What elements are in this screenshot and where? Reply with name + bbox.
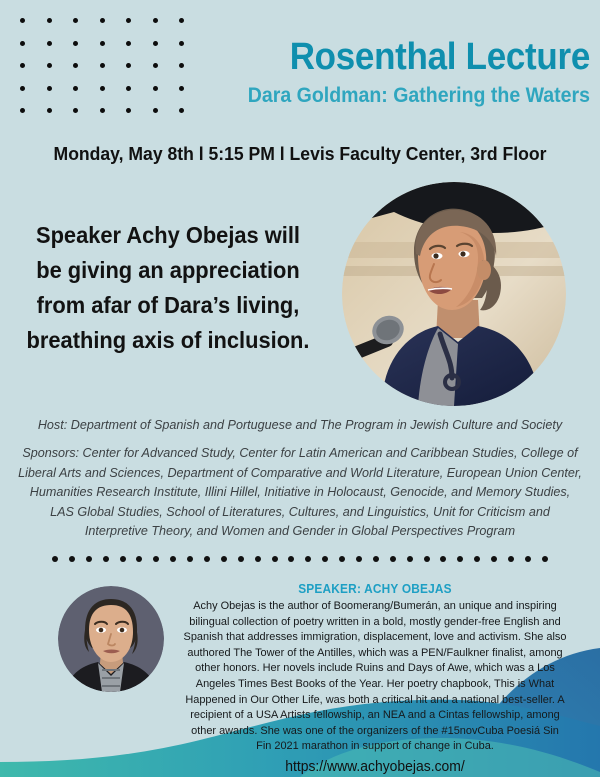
page-subtitle: Dara Goldman: Gathering the Waters (232, 82, 590, 109)
grid-dot (100, 18, 105, 23)
dot-grid-decoration (20, 18, 206, 131)
divider-dot (424, 556, 430, 562)
divider-dot (542, 556, 548, 562)
divider-dot (508, 556, 514, 562)
grid-dot (126, 18, 131, 23)
divider-dot (272, 556, 278, 562)
divider-dot (136, 556, 142, 562)
grid-dot (179, 108, 184, 113)
grid-dot (20, 41, 25, 46)
grid-dot (179, 86, 184, 91)
speaker-bio-photo (58, 586, 164, 692)
grid-dot (73, 41, 78, 46)
divider-dot (288, 556, 294, 562)
divider-dot (170, 556, 176, 562)
divider-dot (221, 556, 227, 562)
divider-dot (407, 556, 413, 562)
event-datetime-location: Monday, May 8th l 5:15 PM l Levis Facult… (15, 143, 585, 165)
grid-dot (126, 41, 131, 46)
divider-dot (525, 556, 531, 562)
grid-dot (179, 41, 184, 46)
grid-dot (47, 63, 52, 68)
divider-dot (204, 556, 210, 562)
grid-dot (47, 41, 52, 46)
divider-dot (390, 556, 396, 562)
grid-dot (153, 86, 158, 91)
page-title: Rosenthal Lecture (236, 36, 590, 78)
divider-dot (86, 556, 92, 562)
grid-dot (73, 86, 78, 91)
sponsors-line: Sponsors: Center for Advanced Study, Cen… (18, 444, 582, 542)
divider-dot (373, 556, 379, 562)
bio-text: Achy Obejas is the author of Boomerang/B… (183, 599, 567, 755)
grid-dot (100, 86, 105, 91)
speaker-bio-block: SPEAKER: ACHY OBEJAS Achy Obejas is the … (175, 582, 575, 775)
dot-divider (52, 556, 548, 562)
divider-dot (153, 556, 159, 562)
grid-dot (100, 108, 105, 113)
poster-canvas: Rosenthal Lecture Dara Goldman: Gatherin… (0, 0, 600, 777)
divider-dot (52, 556, 58, 562)
grid-dot (47, 18, 52, 23)
grid-dot (47, 86, 52, 91)
speaker-photo-main (342, 182, 566, 406)
grid-dot (153, 18, 158, 23)
bio-heading: SPEAKER: ACHY OBEJAS (185, 582, 565, 596)
grid-dot (153, 108, 158, 113)
grid-dot (126, 86, 131, 91)
divider-dot (120, 556, 126, 562)
grid-dot (153, 63, 158, 68)
divider-dot (356, 556, 362, 562)
grid-dot (153, 41, 158, 46)
bio-website-url[interactable]: https://www.achyobejas.com/ (183, 759, 567, 775)
grid-dot (73, 18, 78, 23)
grid-dot (126, 63, 131, 68)
divider-dot (440, 556, 446, 562)
divider-dot (103, 556, 109, 562)
divider-dot (322, 556, 328, 562)
grid-dot (20, 86, 25, 91)
divider-dot (491, 556, 497, 562)
divider-dot (339, 556, 345, 562)
divider-dot (457, 556, 463, 562)
divider-dot (474, 556, 480, 562)
grid-dot (73, 63, 78, 68)
host-line: Host: Department of Spanish and Portugue… (30, 416, 570, 434)
poster-header: Rosenthal Lecture Dara Goldman: Gatherin… (205, 36, 590, 109)
grid-dot (100, 63, 105, 68)
grid-dot (126, 108, 131, 113)
grid-dot (47, 108, 52, 113)
grid-dot (20, 18, 25, 23)
divider-dot (69, 556, 75, 562)
grid-dot (20, 108, 25, 113)
grid-dot (100, 41, 105, 46)
speaker-photo-illustration (342, 182, 566, 406)
divider-dot (255, 556, 261, 562)
grid-dot (179, 18, 184, 23)
grid-dot (20, 63, 25, 68)
divider-dot (238, 556, 244, 562)
pull-quote: Speaker Achy Obejas will be giving an ap… (25, 218, 311, 358)
bio-photo-illustration (58, 586, 164, 692)
grid-dot (179, 63, 184, 68)
divider-dot (305, 556, 311, 562)
divider-dot (187, 556, 193, 562)
grid-dot (73, 108, 78, 113)
